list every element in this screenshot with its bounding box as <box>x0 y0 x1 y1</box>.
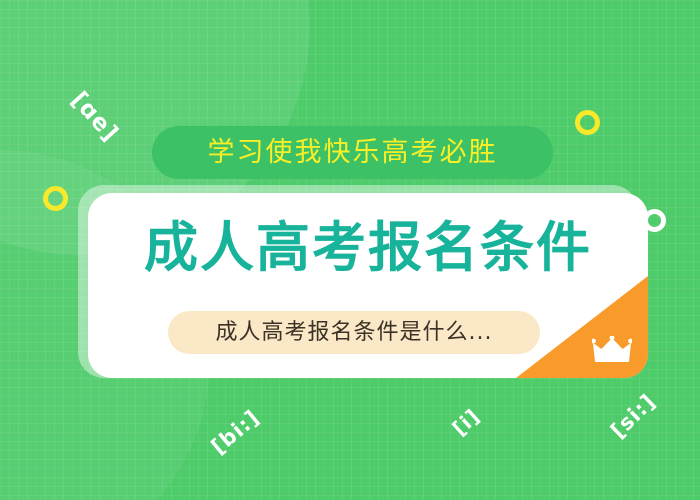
decorative-phonetic-i: [i] <box>448 404 485 441</box>
headline-text: 学习使我快乐高考必胜 <box>208 139 498 166</box>
subtitle-text: 成人高考报名条件是什么... <box>216 322 493 344</box>
crown-icon <box>592 336 632 364</box>
decorative-phonetic-bi: [bi:] <box>207 405 264 459</box>
headline-banner: 学习使我快乐高考必胜 <box>152 126 553 179</box>
decorative-phonetic-si: [si:] <box>606 389 660 443</box>
decorative-ring-yellow-right <box>575 110 600 135</box>
decorative-ring-yellow-left <box>43 186 68 211</box>
page-title: 成人高考报名条件 <box>88 221 648 275</box>
poster-canvas: [ɑe] [bi:] [i] [si:] 学习使我快乐高考必胜 成人高考报名条件… <box>0 0 700 500</box>
subtitle-banner: 成人高考报名条件是什么... <box>168 311 540 354</box>
main-card: 成人高考报名条件 成人高考报名条件是什么... <box>88 193 648 378</box>
